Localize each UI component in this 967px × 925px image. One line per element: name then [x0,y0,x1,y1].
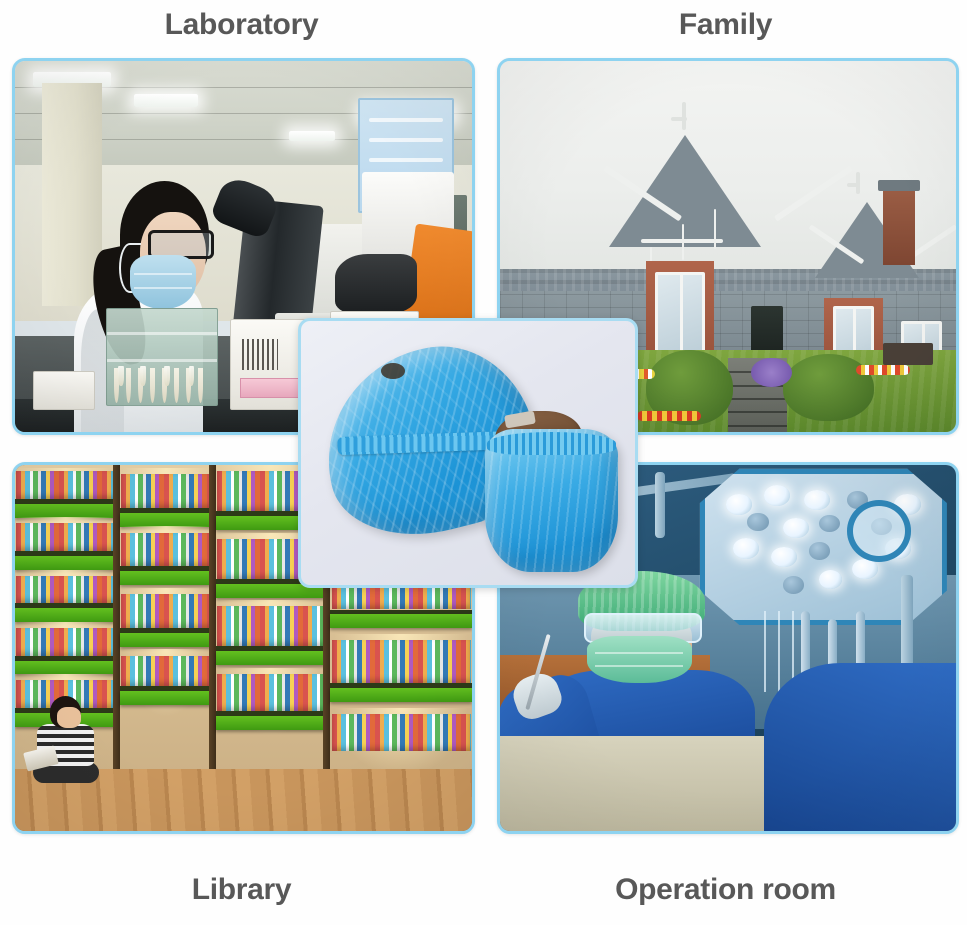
label-library: Library [0,868,483,912]
test-tube-rack [106,308,218,406]
gable-finial [682,102,686,130]
gable-left [609,135,761,247]
label-family: Family [484,0,967,50]
garden-bush [783,354,874,421]
shoe-cover-standing [485,429,619,572]
infographic-stage: Laboratory Family Library Operation room [0,0,967,925]
garden-bench [883,343,933,365]
surgical-mask [587,636,692,683]
product-inset-shoe-covers [298,318,638,588]
child-reading [33,696,102,791]
lab-dark-instrument [335,254,417,313]
chimney [883,183,915,265]
purple-flowers [751,358,792,388]
lamp-handle-hub [847,500,911,562]
face-mask [130,255,196,309]
flower-bed [856,365,911,375]
ceiling-light [289,131,335,140]
flower-bed [637,411,701,421]
label-operation: Operation room [484,868,967,912]
label-laboratory: Laboratory [0,0,483,50]
small-tray [33,371,94,410]
elastic-opening [487,432,615,455]
blue-surgical-drape [764,663,956,831]
ceiling-light [134,94,198,107]
